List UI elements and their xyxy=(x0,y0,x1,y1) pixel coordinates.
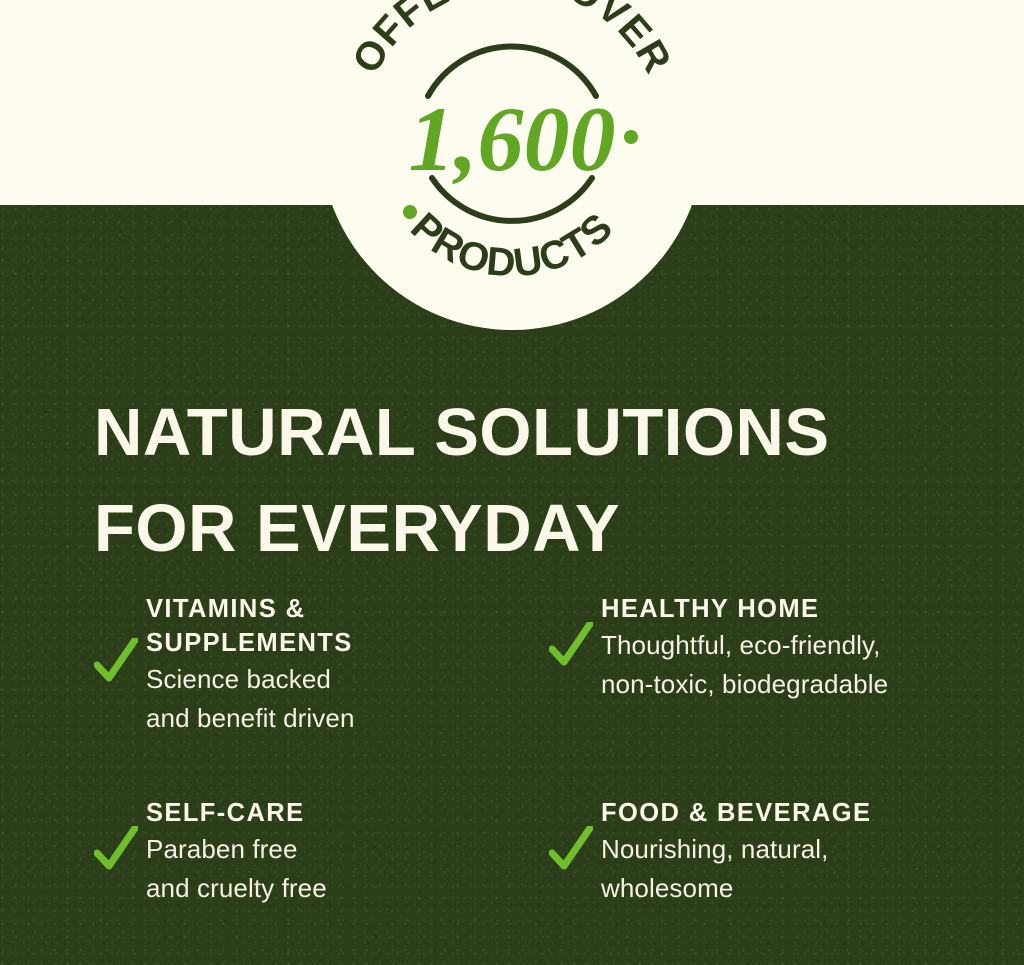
feature-item-vitamins-supplements: Vitamins & Supplements Science backed an… xyxy=(94,592,549,738)
check-icon xyxy=(549,622,593,668)
feature-description: Science backed and benefit driven xyxy=(146,660,355,738)
products-count-badge: OFFERING OVER 1,600 PRODUCTS xyxy=(320,0,704,330)
feature-item-food-beverage: Food & Beverage Nourishing, natural, who… xyxy=(549,796,994,908)
feature-item-healthy-home: Healthy Home Thoughtful, eco-friendly, n… xyxy=(549,592,994,738)
check-icon xyxy=(549,826,593,872)
page-title: Natural Solutions for Everyday xyxy=(94,385,974,577)
feature-description: Paraben free and cruelty free xyxy=(146,830,327,908)
badge-top-arc-text: OFFERING OVER xyxy=(344,0,680,81)
feature-description: Nourishing, natural, wholesome xyxy=(601,830,871,908)
badge-bottom-arc-text: PRODUCTS xyxy=(402,205,621,286)
check-icon xyxy=(94,826,138,872)
feature-title: Food & Beverage xyxy=(601,799,871,827)
promo-poster: OFFERING OVER 1,600 PRODUCTS Natural Sol… xyxy=(0,0,1024,965)
feature-item-self-care: Self-Care Paraben free and cruelty free xyxy=(94,796,549,908)
feature-title: Healthy Home xyxy=(601,595,819,623)
dot-icon-left xyxy=(403,205,417,219)
dot-icon-right xyxy=(624,130,638,144)
feature-description: Thoughtful, eco-friendly, non-toxic, bio… xyxy=(601,626,888,704)
feature-title: Self-Care xyxy=(146,799,305,827)
feature-list: Vitamins & Supplements Science backed an… xyxy=(94,592,994,908)
badge-number: 1,600 xyxy=(409,88,616,190)
feature-title: Vitamins & Supplements xyxy=(146,595,353,657)
check-icon xyxy=(94,638,138,684)
